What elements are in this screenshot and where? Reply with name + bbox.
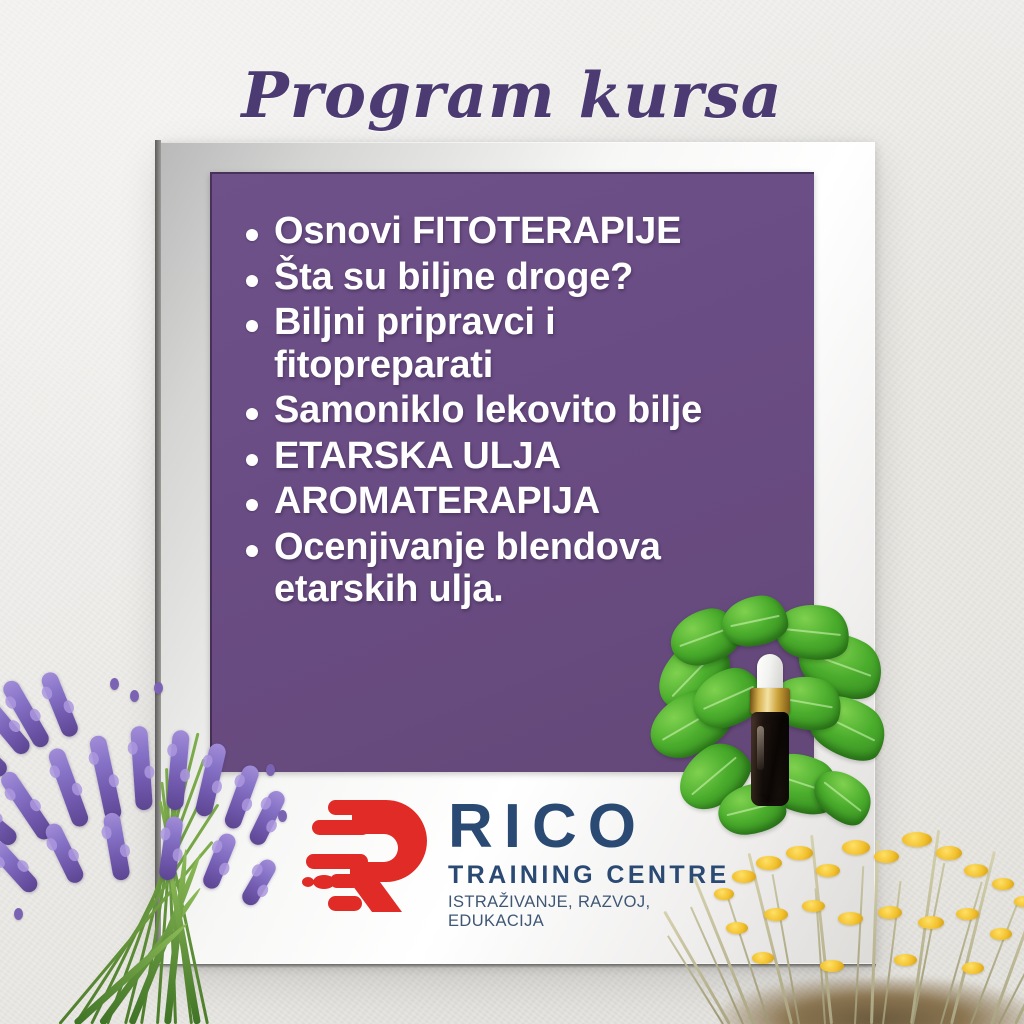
rico-logo[interactable]: RICO TRAINING CENTRE ISTRAŽIVANJE, RAZVO… [300, 792, 730, 924]
list-item: Biljni pripravci i fitopreparati [246, 301, 796, 386]
list-item: Samoniklo lekovito bilje [246, 389, 796, 432]
bullet-icon [246, 408, 258, 420]
list-item-label: Biljni pripravci i fitopreparati [274, 301, 744, 386]
list-item: Osnovi FITOTERAPIJE [246, 210, 796, 253]
immortelle-flowers-icon [712, 812, 1024, 1024]
dropper-bottle-icon [746, 654, 794, 806]
rico-r-motion-icon [300, 792, 440, 917]
list-item: ETARSKA ULJA [246, 435, 796, 478]
brand-slogan: ISTRAŽIVANJE, RAZVOJ, EDUKACIJA [448, 893, 730, 931]
brand-subtitle: TRAINING CENTRE [448, 861, 730, 890]
bullet-icon [246, 499, 258, 511]
bullet-icon [246, 275, 258, 287]
bullet-icon [246, 229, 258, 241]
list-item-label: AROMATERAPIJA [274, 480, 600, 523]
rico-logo-text: RICO TRAINING CENTRE ISTRAŽIVANJE, RAZVO… [448, 792, 730, 931]
brand-name: RICO [448, 798, 730, 857]
poster-canvas: Program kursa Osnovi FITOTERAPIJE Šta su… [0, 0, 1024, 1024]
lavender-bouquet-icon [0, 668, 298, 1024]
list-item: AROMATERAPIJA [246, 480, 796, 523]
list-item-label: Samoniklo lekovito bilje [274, 389, 702, 432]
list-item: Šta su biljne droge? [246, 256, 796, 299]
program-list: Osnovi FITOTERAPIJE Šta su biljne droge?… [246, 210, 796, 614]
bullet-icon [246, 454, 258, 466]
bullet-icon [246, 320, 258, 332]
list-item-label: ETARSKA ULJA [274, 435, 561, 478]
dropper-glass-body [751, 712, 789, 806]
page-title: Program kursa [0, 58, 1024, 132]
list-item-label: Osnovi FITOTERAPIJE [274, 210, 681, 253]
list-item-label: Šta su biljne droge? [274, 256, 633, 299]
dropper-collar [750, 688, 790, 714]
bullet-icon [246, 545, 258, 557]
